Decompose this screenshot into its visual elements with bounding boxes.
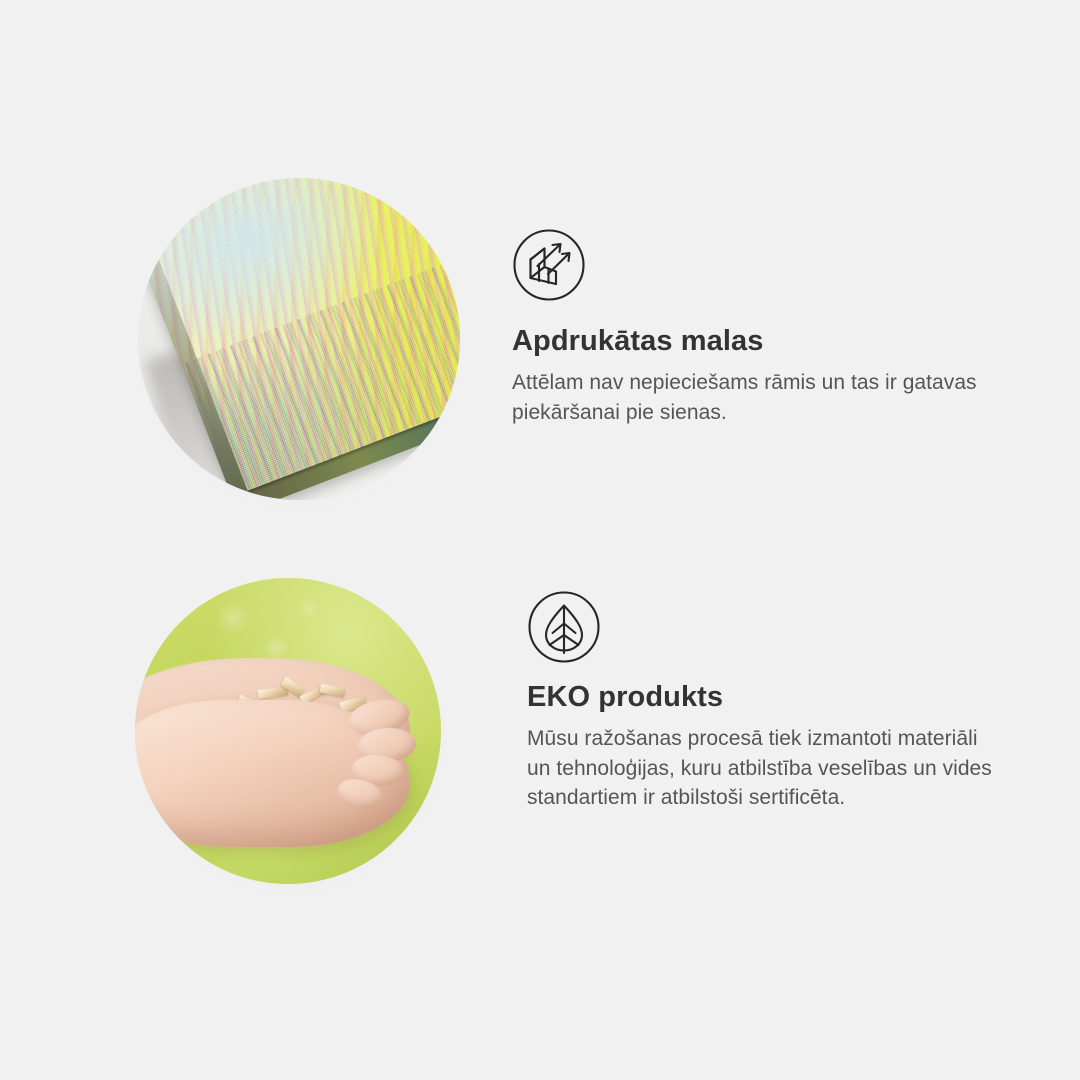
wood-chips-hands-photo xyxy=(135,578,441,884)
eco-text-block: EKO produkts Mūsu ražošanas procesā tiek… xyxy=(527,590,1017,813)
leaf-icon xyxy=(527,590,601,664)
product-feature-page: Apdrukātas malas Attēlam nav nepieciešam… xyxy=(0,0,1080,1080)
printed-edges-icon xyxy=(512,228,586,302)
feature-printed-edges: Apdrukātas malas Attēlam nav nepieciešam… xyxy=(0,0,1080,540)
photo-circle-mask xyxy=(135,578,441,884)
wood-chip xyxy=(320,684,346,698)
photo-circle-mask xyxy=(138,178,460,500)
feature-eco-product: EKO produkts Mūsu ražošanas procesā tiek… xyxy=(0,540,1080,1080)
feature-title: EKO produkts xyxy=(527,680,1017,715)
meadow-background xyxy=(135,578,441,884)
feature-description: Mūsu ražošanas procesā tiek izmantoti ma… xyxy=(527,724,997,813)
canvas-corner-photo xyxy=(138,178,460,500)
canvas-photo-scene xyxy=(138,178,460,500)
feature-title: Apdrukātas malas xyxy=(512,324,1012,359)
wood-chip xyxy=(257,686,288,699)
printed-edges-text-block: Apdrukātas malas Attēlam nav nepieciešam… xyxy=(512,228,1012,427)
feature-description: Attēlam nav nepieciešams rāmis un tas ir… xyxy=(512,368,994,428)
